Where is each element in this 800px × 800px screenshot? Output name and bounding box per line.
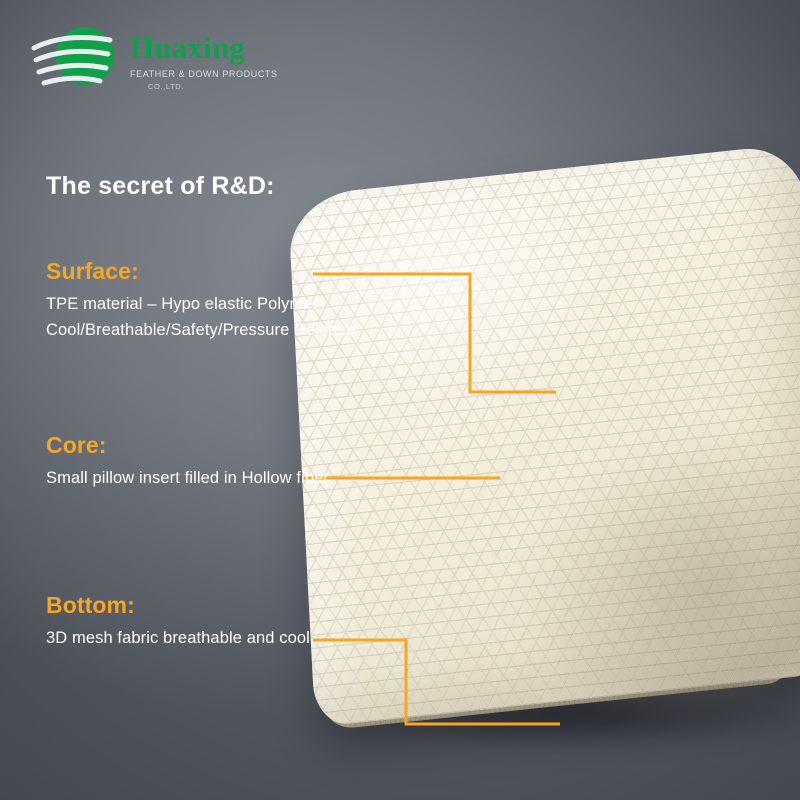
callout-surface: Surface: TPE material – Hypo elastic Pol… xyxy=(46,258,396,343)
callout-bottom: Bottom: 3D mesh fabric breathable and co… xyxy=(46,592,310,651)
callout-core: Core: Small pillow insert filled in Holl… xyxy=(46,432,329,491)
vignette-overlay xyxy=(0,0,800,800)
brand-tagline: FEATHER & DOWN PRODUCTS xyxy=(130,69,278,79)
product-infographic: Huaxing FEATHER & DOWN PRODUCTS CO.,LTD.… xyxy=(0,0,800,800)
brand-name: Huaxing xyxy=(130,32,278,63)
brand-logo[interactable]: Huaxing FEATHER & DOWN PRODUCTS CO.,LTD. xyxy=(30,24,330,106)
callout-core-title: Core: xyxy=(46,432,329,459)
callout-bottom-body: 3D mesh fabric breathable and cool xyxy=(46,625,310,651)
leaf-swoosh-logo-icon xyxy=(30,26,126,98)
callout-surface-body: TPE material – Hypo elastic Polymer Cool… xyxy=(46,291,396,343)
brand-logo-text: Huaxing FEATHER & DOWN PRODUCTS CO.,LTD. xyxy=(130,32,278,91)
callout-bottom-title: Bottom: xyxy=(46,592,310,619)
page-title: The secret of R&D: xyxy=(46,172,275,201)
callout-core-body: Small pillow insert filled in Hollow fib… xyxy=(46,465,329,491)
brand-subline: CO.,LTD. xyxy=(148,82,278,91)
callout-surface-title: Surface: xyxy=(46,258,396,285)
